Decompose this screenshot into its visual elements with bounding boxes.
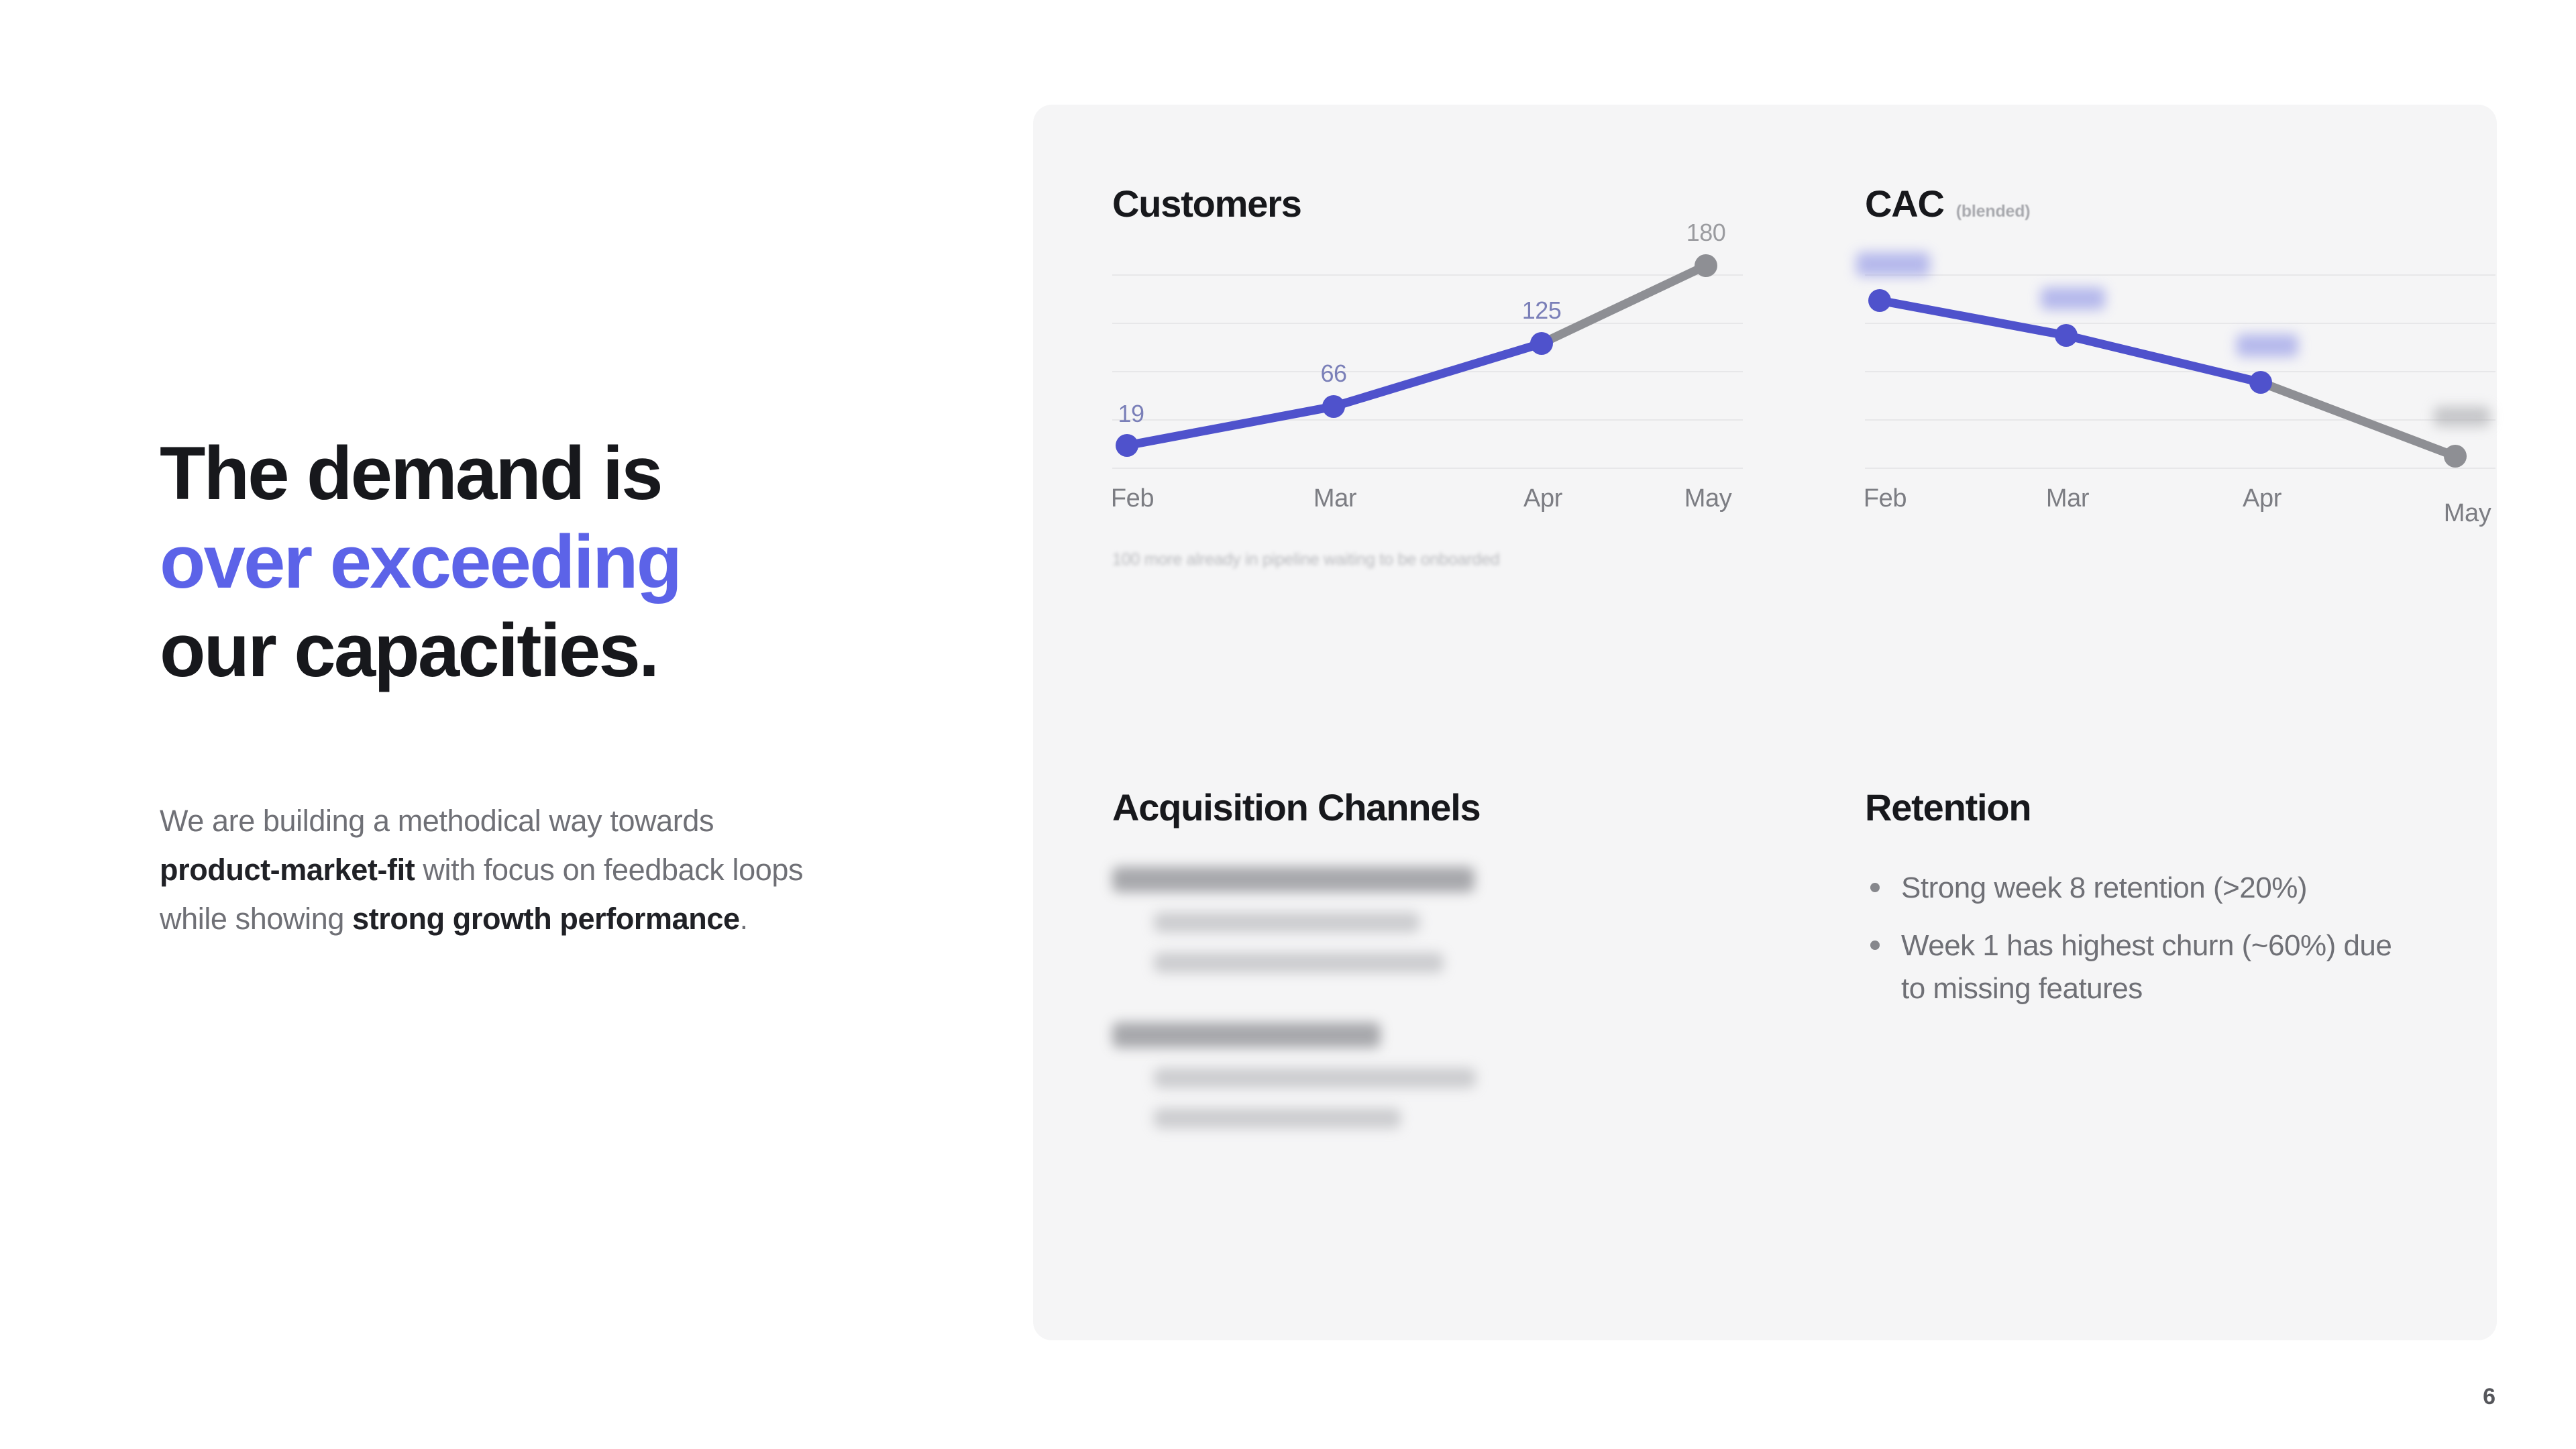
customers-line-actual (1127, 343, 1542, 445)
cac-point-mar (2055, 324, 2078, 347)
customers-chart-svg (1112, 251, 1743, 472)
body-segment-3: . (740, 902, 748, 936)
list-item: Strong week 8 retention (>20%) (1865, 867, 2495, 910)
customers-title-label: Customers (1112, 182, 1301, 225)
body-paragraph: We are building a methodical way towards… (160, 797, 830, 944)
metrics-card: Customers (1033, 105, 2497, 1340)
acquisition-redacted-content (1112, 867, 1743, 1128)
customers-xtick-mar: Mar (1313, 484, 1356, 513)
retention-title-label: Retention (1865, 786, 2031, 829)
customers-point-apr (1530, 332, 1553, 355)
cac-chart-svg (1865, 251, 2495, 472)
slide: The demand is over exceeding our capacit… (0, 0, 2576, 1449)
customers-xtick-may: May (1684, 484, 1732, 513)
customers-point-mar (1322, 395, 1345, 418)
customers-x-axis: Feb Mar Apr May (1112, 484, 1743, 531)
gridlines (1112, 275, 1743, 468)
page-title: The demand is over exceeding our capacit… (160, 429, 911, 695)
customers-point-feb (1116, 434, 1138, 457)
customers-chart: 19 66 125 180 (1112, 251, 1743, 472)
cac-point-may (2444, 445, 2467, 468)
customers-xtick-apr: Apr (1523, 484, 1562, 513)
panel-cac: CAC (blended) (1865, 182, 2495, 531)
headline-line-1: The demand is (160, 429, 911, 518)
acquisition-group-gap (1112, 993, 1743, 1022)
acquisition-group-1-heading-redacted (1112, 867, 1474, 892)
customers-label-may: 180 (1686, 219, 1726, 247)
cac-title-label: CAC (1865, 182, 1944, 225)
customers-label-mar: 66 (1320, 360, 1346, 388)
customers-footnote: 100 more already in pipeline waiting to … (1112, 550, 1743, 570)
cac-chart (1865, 251, 2495, 472)
cac-xtick-may: May (2444, 499, 2491, 528)
acquisition-item-2-redacted (1154, 953, 1444, 973)
cac-xtick-feb: Feb (1864, 484, 1907, 513)
customers-label-feb: 19 (1118, 400, 1144, 428)
headline-line-2-accent: over exceeding (160, 518, 911, 606)
cac-title: CAC (blended) (1865, 182, 2495, 225)
retention-title: Retention (1865, 786, 2495, 829)
cac-label-feb-redacted (1856, 252, 1930, 276)
acquisition-title-label: Acquisition Channels (1112, 786, 1481, 829)
acquisition-group-2-heading-redacted (1112, 1022, 1381, 1048)
panel-customers: Customers (1112, 182, 1743, 570)
acquisition-item-3-redacted (1154, 1068, 1476, 1088)
customers-xtick-feb: Feb (1111, 484, 1154, 513)
acquisition-title: Acquisition Channels (1112, 786, 1743, 829)
cac-point-feb (1868, 289, 1891, 312)
list-item: Week 1 has highest churn (~60%) due to m… (1865, 924, 2411, 1010)
cac-label-mar-redacted (2041, 287, 2105, 310)
cac-xtick-mar: Mar (2046, 484, 2089, 513)
panel-acquisition-channels: Acquisition Channels (1112, 786, 1743, 1148)
cac-x-axis: Feb Mar Apr May (1865, 484, 2495, 531)
cac-label-apr-redacted (2237, 334, 2298, 357)
headline-line-3: our capacities. (160, 606, 911, 695)
page-number: 6 (2483, 1384, 2495, 1410)
customers-line-projected (1542, 266, 1706, 343)
acquisition-item-4-redacted (1154, 1108, 1401, 1128)
cac-subtitle: (blended) (1956, 202, 2031, 221)
panel-retention: Retention Strong week 8 retention (>20%)… (1865, 786, 2495, 1026)
body-bold-2: strong growth performance (352, 902, 740, 936)
customers-point-may (1695, 254, 1717, 277)
body-bold-1: product-market-fit (160, 853, 415, 887)
left-text-column: The demand is over exceeding our capacit… (160, 429, 911, 944)
customers-label-apr: 125 (1522, 297, 1562, 325)
retention-bullet-list: Strong week 8 retention (>20%) Week 1 ha… (1865, 867, 2495, 1011)
body-segment-1: We are building a methodical way towards (160, 804, 714, 838)
cac-label-may-redacted (2434, 407, 2490, 427)
customers-title: Customers (1112, 182, 1743, 225)
cac-point-apr (2249, 371, 2272, 394)
acquisition-item-1-redacted (1154, 912, 1419, 932)
cac-xtick-apr: Apr (2243, 484, 2282, 513)
